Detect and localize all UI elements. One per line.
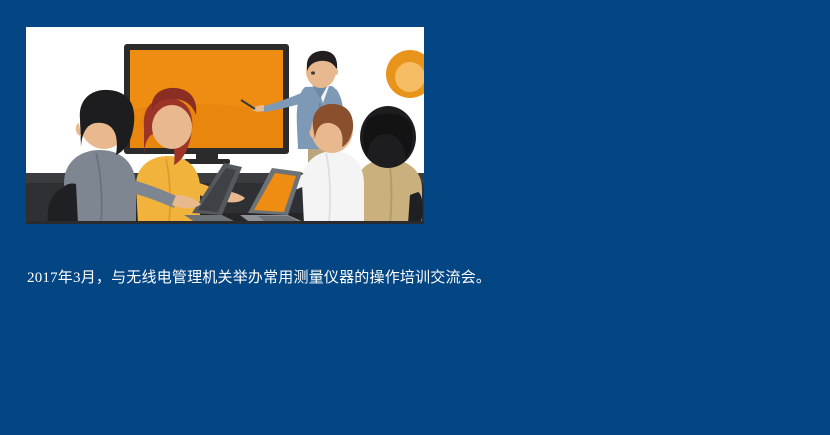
photo-bottom-edge	[26, 221, 424, 224]
presentation-screen	[124, 44, 289, 164]
slide-caption: 2017年3月，与无线电管理机关举办常用测量仪器的操作培训交流会。	[27, 268, 787, 288]
training-photo[interactable]	[26, 27, 424, 224]
training-scene-illustration	[26, 27, 424, 224]
slide-canvas: 2017年3月，与无线电管理机关举办常用测量仪器的操作培训交流会。	[0, 0, 830, 435]
